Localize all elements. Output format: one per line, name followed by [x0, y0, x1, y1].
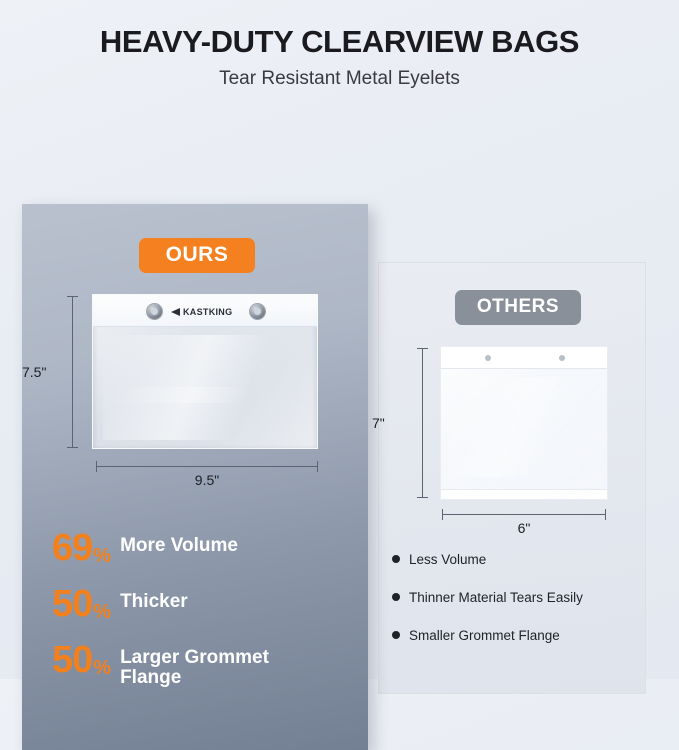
page-title: HEAVY-DUTY CLEARVIEW BAGS [0, 26, 679, 59]
stat-number: 50 [52, 586, 92, 622]
page-subtitle: Tear Resistant Metal Eyelets [0, 68, 679, 90]
others-badge: OTHERS [455, 290, 581, 325]
others-width-cap-left [442, 509, 443, 520]
stat-unit: % [93, 602, 111, 622]
brand-label: KASTKING [183, 307, 232, 317]
ours-stats-list: 69 % More Volume 50 % Thicker 50 % Large… [52, 530, 352, 709]
ours-height-label: 7.5" [22, 364, 46, 380]
others-bag-bottom-strip [441, 489, 607, 499]
stat-item: 50 % Thicker [52, 586, 352, 622]
ours-height-cap-top [67, 296, 78, 297]
bullet-dot-icon [392, 631, 400, 639]
stat-unit: % [93, 546, 111, 566]
others-bag-image [440, 346, 608, 500]
others-height-label: 7" [372, 415, 385, 431]
stat-label: More Volume [120, 536, 238, 557]
others-width-line [442, 514, 606, 515]
stat-item: 50 % Larger Grommet Flange [52, 642, 352, 689]
stat-item: 69 % More Volume [52, 530, 352, 566]
others-bag-header-strip [441, 347, 607, 369]
ours-bag-image: KASTKING [92, 294, 318, 449]
ours-width-cap-left [96, 461, 97, 472]
stat-number: 50 [52, 642, 92, 678]
others-height-line [422, 348, 423, 498]
plastic-sheen [103, 335, 303, 440]
ours-height-line [72, 296, 73, 448]
others-plastic-sheen [449, 377, 599, 477]
header: HEAVY-DUTY CLEARVIEW BAGS Tear Resistant… [0, 0, 679, 90]
others-width-cap-right [605, 509, 606, 520]
grommet-icon-right [250, 304, 265, 319]
bullet-dot-icon [392, 555, 400, 563]
fish-logo-icon [171, 308, 180, 316]
ours-width-label: 9.5" [195, 472, 219, 488]
ours-badge: OURS [139, 238, 255, 273]
bullet-label: Thinner Material Tears Easily [409, 590, 583, 605]
ours-height-cap-bottom [67, 447, 78, 448]
stat-label: Larger Grommet Flange [120, 648, 305, 689]
list-item: Thinner Material Tears Easily [392, 590, 642, 605]
punch-hole-icon-right [559, 355, 565, 361]
others-bullets-list: Less Volume Thinner Material Tears Easil… [392, 552, 642, 666]
bullet-dot-icon [392, 593, 400, 601]
ours-width-cap-right [317, 461, 318, 472]
bullet-label: Smaller Grommet Flange [409, 628, 560, 643]
ours-width-line [96, 466, 318, 467]
bullet-label: Less Volume [409, 552, 486, 567]
others-width-label: 6" [518, 520, 531, 536]
plastic-sheen-2 [113, 387, 303, 403]
others-height-cap-bottom [417, 497, 428, 498]
others-height-cap-top [417, 348, 428, 349]
comparison-stage: OURS OTHERS KASTKING 7.5" 9.5" [0, 90, 679, 650]
stat-number: 69 [52, 530, 92, 566]
punch-hole-icon-left [485, 355, 491, 361]
list-item: Less Volume [392, 552, 642, 567]
brand-logo: KASTKING [171, 307, 232, 317]
grommet-icon-left [147, 304, 162, 319]
stat-unit: % [93, 658, 111, 678]
stat-label: Thicker [120, 592, 188, 613]
list-item: Smaller Grommet Flange [392, 628, 642, 643]
